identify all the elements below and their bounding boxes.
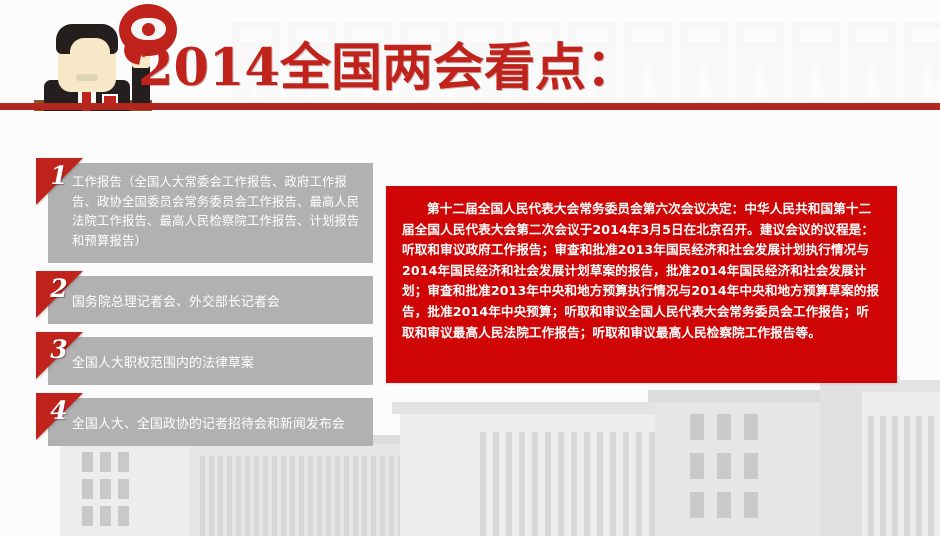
building-silhouette bbox=[400, 408, 660, 536]
speaker-hair bbox=[56, 24, 118, 54]
eye-icon bbox=[131, 18, 166, 40]
building-roof bbox=[392, 402, 668, 414]
list-item-text: 全国人大、全国政协的记者招待会和新闻发布会 bbox=[72, 411, 363, 437]
list-item[interactable]: 工作报告（全国人大常委会工作报告、政府工作报告、政协全国委员会常务委员会工作报告… bbox=[48, 163, 373, 263]
header-divider bbox=[0, 103, 940, 110]
list-item-text: 全国人大职权范围内的法律草案 bbox=[72, 350, 363, 376]
highlights-list: 工作报告（全国人大常委会工作报告、政府工作报告、政协全国委员会常务委员会工作报告… bbox=[48, 163, 373, 457]
list-item-number: 2 bbox=[44, 274, 74, 303]
list-item-text: 工作报告（全国人大常委会工作报告、政府工作报告、政协全国委员会常务委员会工作报告… bbox=[72, 173, 363, 251]
list-item[interactable]: 全国人大职权范围内的法律草案 3 bbox=[48, 337, 373, 385]
building-windows bbox=[690, 414, 758, 518]
list-item-band: 国务院总理记者会、外交部长记者会 bbox=[48, 276, 373, 324]
page-title: 2014全国两会看点： bbox=[138, 40, 637, 96]
speaker-mouth bbox=[76, 74, 98, 81]
list-item-number: 4 bbox=[44, 396, 74, 425]
list-item-number: 1 bbox=[44, 161, 74, 190]
list-item-band: 全国人大职权范围内的法律草案 bbox=[48, 337, 373, 385]
list-item[interactable]: 国务院总理记者会、外交部长记者会 2 bbox=[48, 276, 373, 324]
list-item-band: 工作报告（全国人大常委会工作报告、政府工作报告、政协全国委员会常务委员会工作报告… bbox=[48, 163, 373, 263]
building-silhouette bbox=[862, 386, 940, 536]
list-item-text: 国务院总理记者会、外交部长记者会 bbox=[72, 289, 363, 315]
building-columns bbox=[868, 416, 934, 536]
page-header: 2014全国两会看点： bbox=[0, 0, 940, 111]
poster-canvas: 2014全国两会看点： 工作报告（全国人大常委会工作报告、政府工作报告、政协全国… bbox=[0, 0, 940, 536]
announcement-panel: 第十二届全国人民代表大会常务委员会第六次会议决定：中华人民共和国第十二届全国人民… bbox=[386, 186, 897, 383]
building-columns bbox=[200, 456, 556, 536]
list-item[interactable]: 全国人大、全国政协的记者招待会和新闻发布会 4 bbox=[48, 398, 373, 446]
building-silhouette bbox=[655, 396, 835, 536]
list-item-number: 3 bbox=[44, 335, 74, 364]
building-roof bbox=[648, 390, 844, 402]
announcement-text: 第十二届全国人民代表大会常务委员会第六次会议决定：中华人民共和国第十二届全国人民… bbox=[402, 199, 881, 343]
eye-pupil bbox=[142, 23, 155, 36]
building-windows bbox=[82, 452, 129, 526]
building-silhouette bbox=[820, 376, 900, 536]
list-item-band: 全国人大、全国政协的记者招待会和新闻发布会 bbox=[48, 398, 373, 446]
building-columns bbox=[480, 432, 707, 536]
